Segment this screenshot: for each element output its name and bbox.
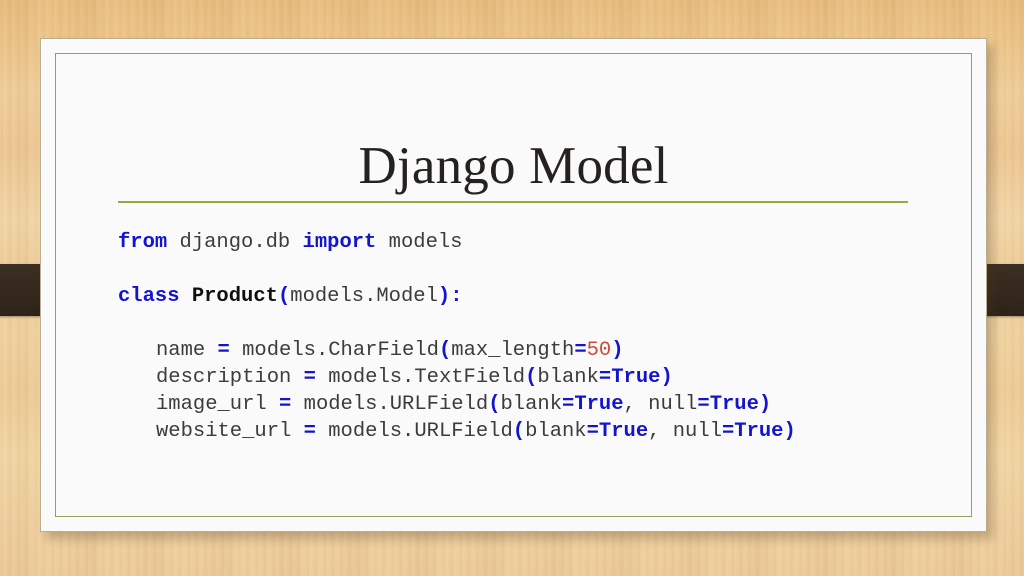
code-line: class Product(models.Model): [118, 283, 946, 310]
code-token-name: Product [192, 285, 278, 308]
code-line: from django.db import models [118, 229, 946, 256]
code-token-pl: website_url [156, 420, 304, 443]
code-token-pl: max_length [451, 339, 574, 362]
code-token-bool: True [710, 393, 759, 416]
code-token-pl: , [624, 393, 649, 416]
code-token-bool: True [611, 366, 660, 389]
code-token-op: = [304, 420, 316, 443]
code-line: image_url = models.URLField(blank=True, … [118, 391, 946, 418]
code-token-op: = [562, 393, 574, 416]
code-token-pl: null [648, 393, 697, 416]
code-token-op: ( [513, 420, 525, 443]
code-token-pl: models [376, 231, 462, 254]
code-token-pl: description [156, 366, 304, 389]
code-token-op: = [304, 366, 316, 389]
code-token-op: ) [611, 339, 623, 362]
code-line: website_url = models.URLField(blank=True… [118, 418, 946, 445]
code-token-num: 50 [587, 339, 612, 362]
code-token-bool: True [734, 420, 783, 443]
code-line: description = models.TextField(blank=Tru… [118, 364, 946, 391]
slide-content-card: Django Model from django.db import model… [40, 38, 987, 532]
code-token-op: ) [759, 393, 771, 416]
code-token-op: = [574, 339, 586, 362]
code-token-op: ( [439, 339, 451, 362]
code-line: name = models.CharField(max_length=50) [118, 337, 946, 364]
code-token-kw: from [118, 231, 167, 254]
code-block: from django.db import models class Produ… [118, 229, 946, 445]
page-title: Django Model [41, 139, 986, 195]
code-token-op: : [450, 285, 462, 308]
code-token-pl [180, 285, 192, 308]
title-divider [118, 201, 908, 203]
code-token-pl: models.URLField [291, 393, 488, 416]
code-token-pl: models.URLField [316, 420, 513, 443]
code-token-kw: class [118, 285, 180, 308]
code-token-op: = [599, 366, 611, 389]
code-token-pl: django.db [167, 231, 302, 254]
code-token-pl: models.TextField [316, 366, 525, 389]
code-token-pl: models.CharField [230, 339, 439, 362]
code-line-blank [118, 310, 946, 337]
code-token-op: ( [488, 393, 500, 416]
code-token-pl: models.Model [290, 285, 438, 308]
code-token-pl: blank [525, 420, 587, 443]
code-line-blank [118, 256, 946, 283]
code-token-kw: import [303, 231, 377, 254]
code-token-pl: blank [537, 366, 599, 389]
code-token-op: = [722, 420, 734, 443]
code-token-pl: blank [501, 393, 563, 416]
code-token-op: = [279, 393, 291, 416]
code-token-op: ) [784, 420, 796, 443]
code-token-op: = [218, 339, 230, 362]
code-token-op: ( [525, 366, 537, 389]
code-token-pl: null [673, 420, 722, 443]
code-token-op: = [587, 420, 599, 443]
code-token-pl: , [648, 420, 673, 443]
code-token-op: ) [438, 285, 450, 308]
code-token-op: = [697, 393, 709, 416]
code-token-op: ( [278, 285, 290, 308]
code-token-pl: image_url [156, 393, 279, 416]
slide-root: Django Model from django.db import model… [0, 0, 1024, 576]
code-token-pl: name [156, 339, 218, 362]
code-token-bool: True [574, 393, 623, 416]
code-token-bool: True [599, 420, 648, 443]
code-token-op: ) [660, 366, 672, 389]
